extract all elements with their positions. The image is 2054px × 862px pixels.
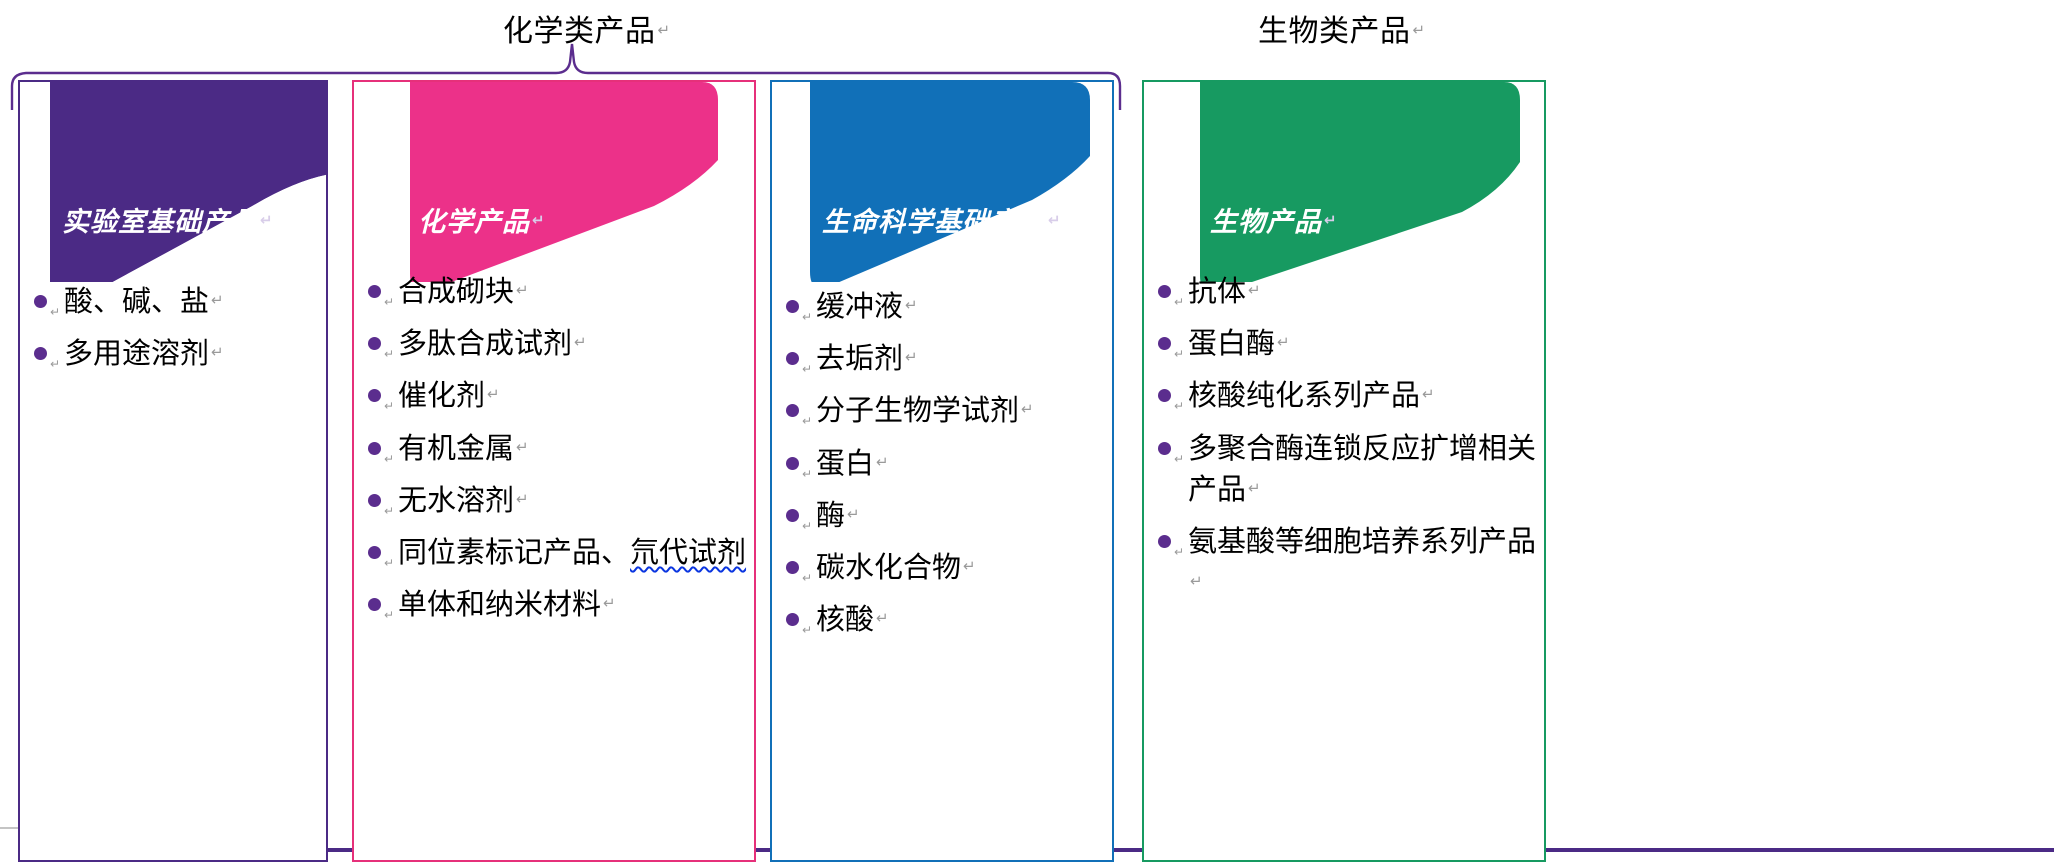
pilcrow-mark: ↵ [260, 212, 274, 229]
pilcrow-mark: ↵ [876, 610, 889, 627]
list-item[interactable]: ↵ 有机金属↵ [354, 429, 754, 470]
bullet-list-life-science-basic: ↵ 缓冲液↵ ↵ 去垢剂↵ ↵ 分子生物学试剂↵ ↵ 蛋白↵ ↵ 酶↵ ↵ 碳水… [772, 287, 1112, 652]
pilcrow-mark: ↵ [211, 344, 224, 361]
group-label-chemical-text: 化学类产品 [503, 15, 656, 48]
list-item-label: 单体和纳米材料 [398, 589, 601, 621]
tab-mark: ↵ [50, 304, 60, 321]
pilcrow-mark: ↵ [1248, 480, 1261, 497]
card-title-life-science-basic: 生命科学基础产品↵ [822, 200, 1062, 239]
list-item[interactable]: ↵ 核酸↵ [772, 600, 1112, 641]
tab-mark: ↵ [384, 503, 394, 520]
list-item-label: 多聚合酶连锁反应扩增相关产品 [1188, 433, 1536, 506]
tab-mark: ↵ [384, 294, 394, 311]
tab-mark: ↵ [802, 413, 812, 430]
list-item[interactable]: ↵ 多聚合酶连锁反应扩增相关产品↵ [1144, 429, 1544, 511]
pilcrow-mark: ↵ [1277, 334, 1290, 351]
bullet-list-chemical-products: ↵ 合成砌块↵ ↵ 多肽合成试剂↵ ↵ 催化剂↵ ↵ 有机金属↵ ↵ 无水溶剂↵… [354, 272, 754, 637]
pilcrow-mark: ↵ [1021, 401, 1034, 418]
list-item-label: 核酸 [816, 604, 874, 636]
tab-mark: ↵ [384, 398, 394, 415]
list-item-label: 酶 [816, 500, 845, 532]
list-item[interactable]: ↵ 核酸纯化系列产品↵ [1144, 376, 1544, 417]
pilcrow-mark: ↵ [574, 334, 587, 351]
card-chemical-products[interactable]: 化学产品↵ ↵ 合成砌块↵ ↵ 多肽合成试剂↵ ↵ 催化剂↵ ↵ 有机金属↵ ↵… [352, 80, 756, 862]
list-item[interactable]: ↵ 碳水化合物↵ [772, 548, 1112, 589]
list-item[interactable]: ↵ 分子生物学试剂↵ [772, 391, 1112, 432]
card-biological-products[interactable]: 生物产品↵ ↵ 抗体↵ ↵ 蛋白酶↵ ↵ 核酸纯化系列产品↵ ↵ 多聚合酶连锁反… [1142, 80, 1546, 862]
tab-mark: ↵ [384, 346, 394, 363]
list-item[interactable]: ↵ 多肽合成试剂↵ [354, 324, 754, 365]
pilcrow-mark: ↵ [1324, 212, 1338, 229]
list-item-label: 氨基酸等细胞培养系列产品 [1188, 526, 1536, 558]
pilcrow-mark: ↵ [905, 297, 918, 314]
list-item-label: 无水溶剂 [398, 485, 514, 517]
tab-mark: ↵ [802, 309, 812, 326]
list-item[interactable]: ↵ 同位素标记产品、氘代试剂 [354, 533, 754, 574]
misspelled-term: 氘代试剂 [630, 537, 746, 569]
list-item[interactable]: ↵ 单体和纳米材料↵ [354, 585, 754, 626]
tab-mark: ↵ [1174, 294, 1184, 311]
card-banner-shape [20, 82, 328, 282]
list-item[interactable]: ↵ 氨基酸等细胞培养系列产品↵ [1144, 522, 1544, 604]
tab-mark: ↵ [1174, 398, 1184, 415]
list-item-label: 蛋白酶 [1188, 328, 1275, 360]
list-item[interactable]: ↵ 无水溶剂↵ [354, 481, 754, 522]
pilcrow-mark: ↵ [487, 386, 500, 403]
pilcrow-mark: ↵ [1422, 386, 1435, 403]
list-item-label: 合成砌块 [398, 276, 514, 308]
pilcrow-mark: ↵ [1190, 573, 1203, 590]
group-label-biological: 生物类产品↵ [1258, 6, 1426, 50]
list-item[interactable]: ↵ 合成砌块↵ [354, 272, 754, 313]
pilcrow-mark: ↵ [516, 439, 529, 456]
list-item-label: 分子生物学试剂 [816, 395, 1019, 427]
card-banner-shape [1144, 82, 1546, 282]
list-item[interactable]: ↵ 酸、碱、盐↵ [20, 282, 326, 323]
pilcrow-mark: ↵ [516, 282, 529, 299]
list-item-label: 酸、碱、盐 [64, 286, 209, 318]
list-item[interactable]: ↵ 蛋白酶↵ [1144, 324, 1544, 365]
tab-mark: ↵ [1174, 544, 1184, 561]
card-title-text: 化学产品 [418, 207, 530, 237]
list-item[interactable]: ↵ 去垢剂↵ [772, 339, 1112, 380]
list-item[interactable]: ↵ 抗体↵ [1144, 272, 1544, 313]
list-item-label: 抗体 [1188, 276, 1246, 308]
pilcrow-mark: ↵ [603, 595, 616, 612]
tab-mark: ↵ [50, 356, 60, 373]
bullet-list-lab-basic: ↵ 酸、碱、盐↵ ↵ 多用途溶剂↵ [20, 282, 326, 386]
pilcrow-mark: ↵ [905, 349, 918, 366]
pilcrow-mark: ↵ [516, 491, 529, 508]
list-item-label: 多肽合成试剂 [398, 328, 572, 360]
list-item-label: 同位素标记产品、 [398, 537, 630, 569]
pilcrow-mark: ↵ [876, 454, 889, 471]
card-title-lab-basic: 实验室基础产品↵ [62, 200, 274, 239]
list-item-label: 有机金属 [398, 433, 514, 465]
list-item[interactable]: ↵ 多用途溶剂↵ [20, 334, 326, 375]
tab-mark: ↵ [802, 518, 812, 535]
list-item-label: 缓冲液 [816, 291, 903, 323]
pilcrow-mark: ↵ [532, 212, 546, 229]
group-label-chemical: 化学类产品↵ [503, 6, 671, 50]
tab-mark: ↵ [802, 570, 812, 587]
list-item[interactable]: ↵ 催化剂↵ [354, 376, 754, 417]
diagram-canvas: 化学类产品↵ 生物类产品↵ 实验室基础产品↵ ↵ 酸、碱、盐↵ ↵ 多用途溶 [0, 0, 2054, 862]
pilcrow-mark: ↵ [1413, 22, 1426, 39]
card-title-text: 实验室基础产品 [62, 207, 258, 237]
pilcrow-mark: ↵ [1048, 212, 1062, 229]
pilcrow-mark: ↵ [847, 506, 860, 523]
list-item-label: 碳水化合物 [816, 552, 961, 584]
tab-mark: ↵ [802, 361, 812, 378]
group-label-biological-text: 生物类产品 [1258, 15, 1411, 48]
list-item-label: 蛋白 [816, 448, 874, 480]
list-item[interactable]: ↵ 酶↵ [772, 496, 1112, 537]
tab-mark: ↵ [384, 451, 394, 468]
bullet-list-biological-products: ↵ 抗体↵ ↵ 蛋白酶↵ ↵ 核酸纯化系列产品↵ ↵ 多聚合酶连锁反应扩增相关产… [1144, 272, 1544, 615]
pilcrow-mark: ↵ [211, 292, 224, 309]
list-item-label: 催化剂 [398, 380, 485, 412]
card-title-text: 生命科学基础产品 [822, 207, 1046, 237]
list-item[interactable]: ↵ 缓冲液↵ [772, 287, 1112, 328]
tab-mark: ↵ [802, 622, 812, 639]
tab-mark: ↵ [1174, 346, 1184, 363]
list-item[interactable]: ↵ 蛋白↵ [772, 444, 1112, 485]
tab-mark: ↵ [1174, 451, 1184, 468]
card-title-text: 生物产品 [1210, 207, 1322, 237]
card-banner-shape [354, 82, 756, 282]
card-title-chemical-products: 化学产品↵ [418, 200, 546, 239]
card-banner-shape [772, 82, 1114, 282]
list-item-label: 去垢剂 [816, 343, 903, 375]
pilcrow-mark: ↵ [658, 22, 671, 39]
list-item-label: 核酸纯化系列产品 [1188, 380, 1420, 412]
card-lab-basic[interactable]: 实验室基础产品↵ ↵ 酸、碱、盐↵ ↵ 多用途溶剂↵ [18, 80, 328, 862]
card-title-biological-products: 生物产品↵ [1210, 200, 1338, 239]
tab-mark: ↵ [384, 607, 394, 624]
pilcrow-mark: ↵ [1248, 282, 1261, 299]
tab-mark: ↵ [384, 555, 394, 572]
tab-mark: ↵ [802, 466, 812, 483]
pilcrow-mark: ↵ [963, 558, 976, 575]
card-life-science-basic[interactable]: 生命科学基础产品↵ ↵ 缓冲液↵ ↵ 去垢剂↵ ↵ 分子生物学试剂↵ ↵ 蛋白↵… [770, 80, 1114, 862]
list-item-label: 多用途溶剂 [64, 338, 209, 370]
